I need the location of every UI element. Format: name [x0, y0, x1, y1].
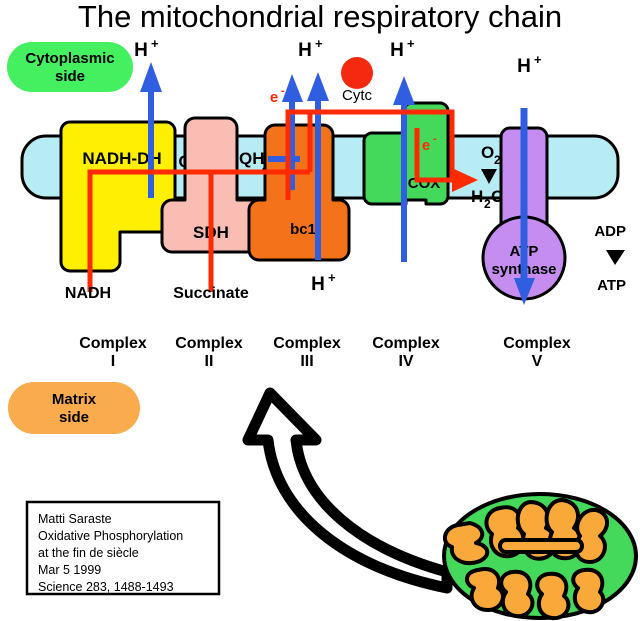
complex-iii-shape — [249, 125, 349, 260]
atp-label: ATP — [597, 277, 626, 294]
complex-label-i-numeral: I — [111, 353, 115, 370]
citation-line-4: Mar 5 1999 — [38, 563, 101, 577]
water-label-h: H — [471, 187, 483, 206]
proton-label-3-sup: + — [407, 36, 415, 51]
badge-cytoplasmic-line2: side — [55, 68, 85, 85]
proton-label-5-sup: + — [328, 270, 336, 285]
complex-label-ii-numeral: II — [205, 353, 214, 370]
proton-label-1-h: H — [134, 40, 148, 61]
electron-label-2-e: e — [422, 137, 430, 154]
diagram-canvas: The mitochondrial respiratory chain Cyto… — [0, 0, 640, 621]
complex-label-v-name: Complex — [503, 335, 571, 352]
complex-iii-bc1: bc1 — [249, 125, 349, 260]
qh2-label-main: QH — [239, 149, 265, 168]
electron-label-1-e: e — [270, 89, 278, 106]
page-title: The mitochondrial respiratory chain — [78, 0, 562, 34]
proton-label-3-h: H — [390, 40, 404, 61]
proton-label-2-h: H — [298, 40, 312, 61]
mitochondrion-illustration — [444, 494, 636, 618]
water-label-sub: 2 — [484, 197, 491, 211]
oxygen-label-main: O — [481, 143, 494, 162]
substrate-nadh-label: NADH — [65, 285, 111, 302]
complex-label-v-numeral: V — [532, 353, 543, 370]
badge-cytoplasmic-side: Cytoplasmic side — [7, 42, 133, 92]
proton-label-4-sup: + — [534, 52, 542, 67]
citation-line-5: Science 283, 1488-1493 — [38, 580, 174, 594]
citation-line-2: Oxidative Phosphorylation — [38, 529, 183, 543]
badge-matrix-bg — [8, 382, 140, 434]
complex-label-iii-name: Complex — [273, 335, 341, 352]
badge-matrix-line1: Matrix — [52, 391, 97, 408]
proton-label-4-h: H — [517, 56, 531, 77]
complex-label-iv-numeral: IV — [398, 353, 413, 370]
cytochrome-c: Cytc — [341, 57, 373, 104]
citation-line-1: Matti Saraste — [38, 512, 112, 526]
substrate-succinate-label: Succinate — [173, 285, 249, 302]
complex-iii-label: bc1 — [290, 221, 316, 238]
proton-label-2-sup: + — [315, 36, 323, 51]
badge-cytoplasmic-line1: Cytoplasmic — [25, 50, 114, 67]
proton-label-1-sup: + — [151, 36, 159, 51]
proton-label-5-h: H — [311, 274, 325, 295]
citation-box: Matti Saraste Oxidative Phosphorylation … — [27, 502, 219, 594]
complex-label-ii-name: Complex — [175, 335, 243, 352]
cytochrome-c-label: Cytc — [342, 87, 373, 104]
badge-matrix-line2: side — [59, 409, 89, 426]
complex-label-iv-name: Complex — [372, 335, 440, 352]
complex-label-iii-numeral: III — [300, 353, 313, 370]
electron-label-2-sup: - — [433, 133, 437, 145]
complex-label-i-name: Complex — [79, 335, 147, 352]
citation-line-3: at the fin de siècle — [38, 546, 139, 560]
badge-matrix-side: Matrix side — [8, 382, 140, 434]
adp-label: ADP — [594, 223, 626, 240]
cytochrome-c-dot — [341, 57, 373, 89]
electron-label-1-sup: - — [281, 85, 285, 97]
